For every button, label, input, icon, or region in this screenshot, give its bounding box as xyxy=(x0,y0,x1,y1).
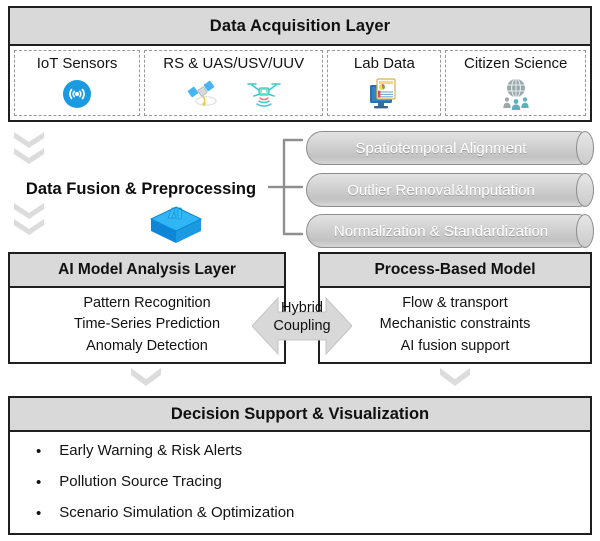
flow-chevron-down-bottom xyxy=(14,203,44,235)
bidirectional-arrow-icon xyxy=(252,288,352,364)
decision-list-item[interactable]: •Early Warning & Risk Alerts xyxy=(36,442,590,459)
process-model-title: Process-Based Model xyxy=(320,254,590,288)
acquisition-cell-iot-sensors[interactable]: IoT Sensors xyxy=(14,50,140,116)
acquisition-cell-icons xyxy=(446,72,585,115)
cylinder-cap xyxy=(576,131,594,165)
model-item: Pattern Recognition xyxy=(83,294,210,313)
acquisition-cell-label: RS & UAS/USV/UUV xyxy=(163,55,304,72)
list-bullet: • xyxy=(36,442,41,459)
acquisition-cell-lab-data[interactable]: Lab Data xyxy=(327,50,441,116)
cylinder-cap xyxy=(576,173,594,207)
drone-icon xyxy=(246,79,282,109)
wifi-sensor-icon xyxy=(62,79,92,109)
lab-monitor-icon xyxy=(369,78,399,110)
decision-item-label: Pollution Source Tracing xyxy=(59,473,222,490)
decision-item-label: Scenario Simulation & Optimization xyxy=(59,504,294,521)
cylinder-label: Normalization & Standardization xyxy=(306,214,576,248)
list-bullet: • xyxy=(36,504,41,521)
ai-cube-icon xyxy=(140,203,212,247)
flow-chevron-down-ai-model xyxy=(131,368,161,386)
decision-item-label: Early Warning & Risk Alerts xyxy=(59,442,242,459)
acquisition-cell-icons xyxy=(15,72,139,115)
data-acquisition-layer: Data Acquisition Layer IoT Sensors RS & … xyxy=(8,6,592,122)
globe-people-icon xyxy=(499,77,533,111)
preprocessing-cylinder[interactable]: Normalization & Standardization xyxy=(306,214,594,248)
decision-list-item[interactable]: •Pollution Source Tracing xyxy=(36,473,590,490)
preprocessing-cylinder[interactable]: Spatiotemporal Alignment xyxy=(306,131,594,165)
model-item: Anomaly Detection xyxy=(86,337,208,356)
decision-support-items: •Early Warning & Risk Alerts•Pollution S… xyxy=(10,432,590,533)
acquisition-cell-label: IoT Sensors xyxy=(37,55,118,72)
model-item: Time-Series Prediction xyxy=(74,315,220,334)
cylinder-label: Outlier Removal&Imputation xyxy=(306,173,576,207)
flow-chevron-down-process-model xyxy=(440,368,470,386)
decision-list-item[interactable]: •Scenario Simulation & Optimization xyxy=(36,504,590,521)
acquisition-cell-label: Citizen Science xyxy=(464,55,567,72)
acquisition-cell-label: Lab Data xyxy=(354,55,415,72)
decision-support-visualization: Decision Support & Visualization •Early … xyxy=(8,396,592,535)
acquisition-cell-citizen-science[interactable]: Citizen Science xyxy=(445,50,586,116)
process-based-model: Process-Based Model Flow & transportMech… xyxy=(318,252,592,364)
model-item: AI fusion support xyxy=(401,337,510,356)
data-acquisition-title: Data Acquisition Layer xyxy=(10,8,590,46)
acquisition-cell-icons xyxy=(328,72,440,115)
model-item: Mechanistic constraints xyxy=(380,315,531,334)
data-fusion-title: Data Fusion & Preprocessing xyxy=(10,180,272,199)
process-model-items: Flow & transportMechanistic constraintsA… xyxy=(320,288,590,362)
acquisition-cell-icons xyxy=(145,72,322,115)
model-item: Flow & transport xyxy=(402,294,508,313)
list-bullet: • xyxy=(36,473,41,490)
cylinder-label: Spatiotemporal Alignment xyxy=(306,131,576,165)
ai-model-title: AI Model Analysis Layer xyxy=(10,254,284,288)
cylinder-cap xyxy=(576,214,594,248)
acquisition-cell-rs-uas-usv-uuv[interactable]: RS & UAS/USV/UUV xyxy=(144,50,323,116)
preprocessing-cylinder[interactable]: Outlier Removal&Imputation xyxy=(306,173,594,207)
flow-chevron-down-top xyxy=(14,132,44,164)
decision-support-title: Decision Support & Visualization xyxy=(10,398,590,432)
ai-model-items: Pattern RecognitionTime-Series Predictio… xyxy=(10,288,284,362)
data-acquisition-cells: IoT Sensors RS & UAS/USV/UUV xyxy=(10,46,590,120)
satellite-icon xyxy=(186,79,220,109)
ai-model-analysis-layer: AI Model Analysis Layer Pattern Recognit… xyxy=(8,252,286,364)
